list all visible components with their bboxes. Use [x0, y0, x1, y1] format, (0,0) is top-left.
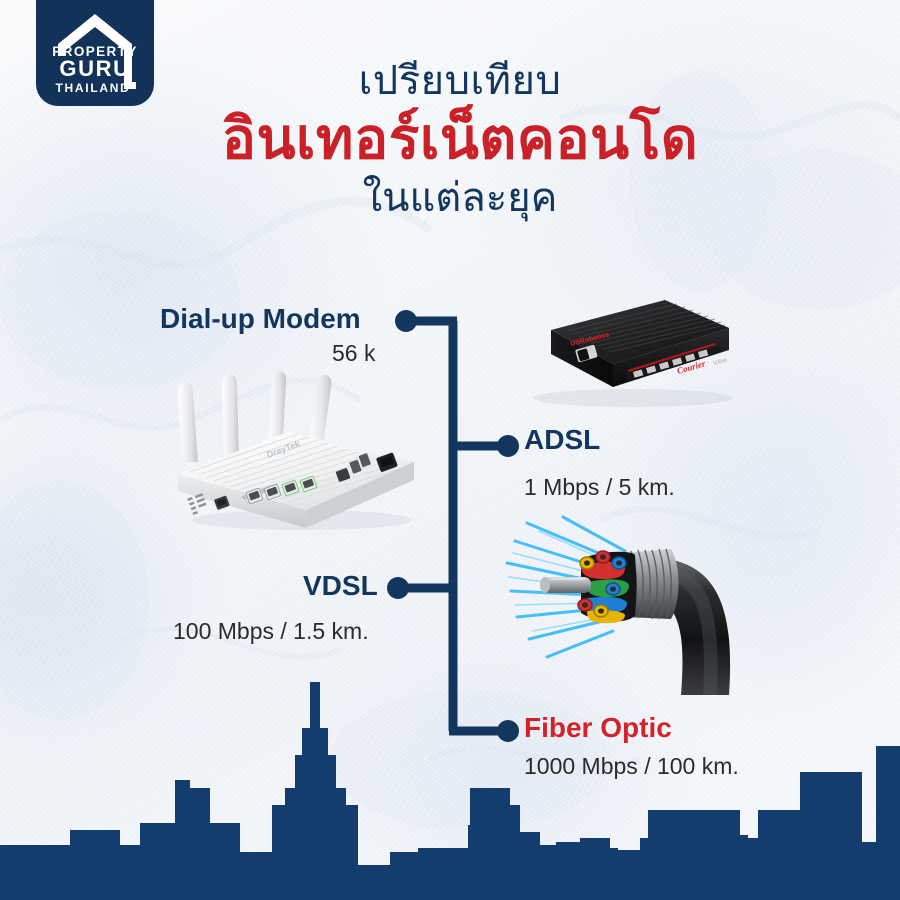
node-spec-adsl: 1 Mbps / 5 km. — [524, 476, 675, 499]
timeline-dot-dialup — [395, 310, 417, 332]
node-label-vdsl: VDSL — [303, 572, 378, 600]
node-spec-vdsl: 100 Mbps / 1.5 km. — [173, 620, 369, 643]
node-label-adsl: ADSL — [524, 426, 600, 454]
city-skyline-silhouette — [0, 660, 900, 900]
timeline-dot-adsl — [497, 435, 519, 457]
infographic-poster: PROPERTY GURU THAILAND เปรียบเทียบ อินเท… — [0, 0, 900, 900]
node-spec-dial-up: 56 k — [332, 342, 375, 365]
node-label-dial-up: Dial-up Modem — [160, 305, 361, 333]
timeline-dot-vdsl — [387, 577, 409, 599]
